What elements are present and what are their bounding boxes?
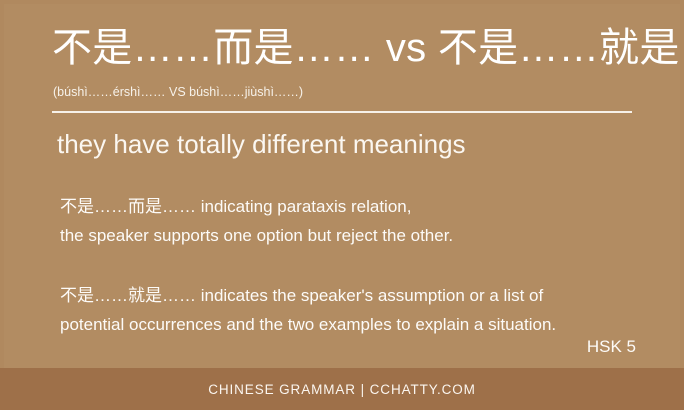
slide-content: 不是……而是…… vs 不是……就是…… (búshì……érshì…… VS … [0, 0, 684, 410]
explanation-paragraph-2: 不是……就是…… indicates the speaker's assumpt… [60, 281, 556, 339]
paragraph-line: potential occurrences and the two exampl… [60, 310, 556, 339]
footer-bar: CHINESE GRAMMAR | CCHATTY.COM [0, 368, 684, 410]
hsk-level-badge: HSK 5 [587, 337, 636, 357]
title-pinyin: (búshì……érshì…… VS búshì……jiùshì……) [53, 85, 303, 100]
page-title: 不是……而是…… vs 不是……就是…… [52, 26, 684, 70]
paragraph-line: the speaker supports one option but reje… [60, 221, 453, 250]
grammar-slide: 不是……而是…… vs 不是……就是…… (búshì……érshì…… VS … [0, 0, 684, 410]
footer-text: CHINESE GRAMMAR | CCHATTY.COM [208, 382, 476, 397]
explanation-paragraph-1: 不是……而是…… indicating parataxis relation, … [60, 192, 453, 250]
subtitle: they have totally different meanings [57, 128, 466, 161]
paragraph-line: 不是……而是…… indicating parataxis relation, [60, 192, 453, 221]
divider [52, 111, 632, 113]
paragraph-line: 不是……就是…… indicates the speaker's assumpt… [60, 281, 556, 310]
